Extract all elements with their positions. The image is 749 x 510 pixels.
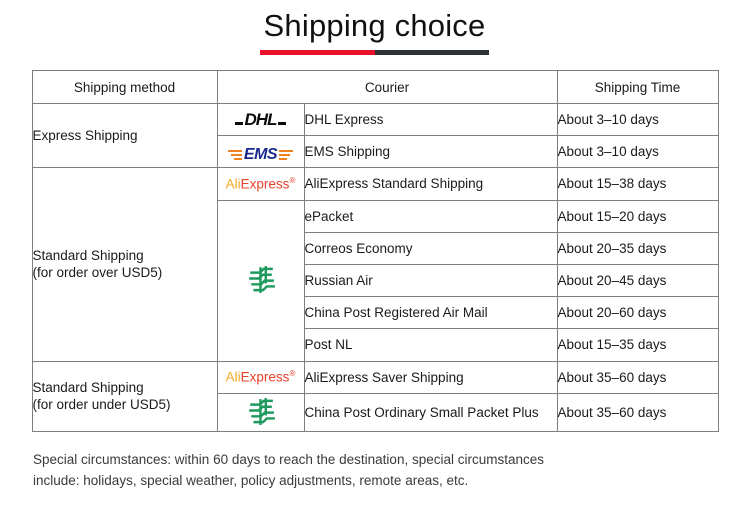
header-courier: Courier [217, 71, 557, 104]
title-block: Shipping choice [0, 0, 749, 55]
footer-line-1: Special circumstances: within 60 days to… [33, 449, 719, 470]
shipping-time: About 20–60 days [557, 297, 718, 329]
courier-logo-cell [217, 393, 304, 431]
service-name: Correos Economy [304, 232, 557, 264]
service-name: DHL Express [304, 104, 557, 136]
method-label-line2: (for order over USD5) [33, 264, 217, 281]
service-name: China Post Ordinary Small Packet Plus [304, 393, 557, 431]
table-row: Express Shipping DHL DHL Express About 3… [32, 104, 718, 136]
method-express-shipping: Express Shipping [32, 104, 217, 168]
service-name: AliExpress Saver Shipping [304, 361, 557, 393]
service-name: EMS Shipping [304, 136, 557, 168]
method-label-line2: (for order under USD5) [33, 396, 217, 413]
courier-logo-cell: EMS [217, 136, 304, 168]
table-row: Standard Shipping (for order over USD5) … [32, 168, 718, 200]
service-name: Post NL [304, 329, 557, 361]
service-name: ePacket [304, 200, 557, 232]
china-post-icon [244, 262, 278, 296]
footer-line-2: include: holidays, special weather, poli… [33, 470, 719, 491]
dhl-icon: DHL [236, 111, 286, 128]
ems-icon: EMS [228, 147, 293, 163]
shipping-time: About 15–35 days [557, 329, 718, 361]
shipping-time: About 3–10 days [557, 104, 718, 136]
courier-logo-cell [217, 200, 304, 361]
aliexpress-icon: AliExpress® [226, 370, 296, 384]
underline-red-segment [260, 50, 375, 55]
page-title: Shipping choice [0, 6, 749, 46]
shipping-table: Shipping method Courier Shipping Time Ex… [32, 70, 719, 432]
table-row: Standard Shipping (for order under USD5)… [32, 361, 718, 393]
method-label-line1: Standard Shipping [33, 247, 217, 264]
shipping-time: About 20–35 days [557, 232, 718, 264]
header-shipping-time: Shipping Time [557, 71, 718, 104]
shipping-time: About 20–45 days [557, 264, 718, 296]
shipping-time: About 3–10 days [557, 136, 718, 168]
title-underline [260, 50, 489, 55]
aliexpress-icon: AliExpress® [226, 177, 296, 191]
courier-logo-cell: AliExpress® [217, 361, 304, 393]
method-standard-shipping-under: Standard Shipping (for order under USD5) [32, 361, 217, 431]
service-name: AliExpress Standard Shipping [304, 168, 557, 200]
footer-note: Special circumstances: within 60 days to… [30, 449, 719, 491]
courier-logo-cell: DHL [217, 104, 304, 136]
shipping-time: About 15–20 days [557, 200, 718, 232]
shipping-time: About 15–38 days [557, 168, 718, 200]
shipping-time: About 35–60 days [557, 393, 718, 431]
service-name: China Post Registered Air Mail [304, 297, 557, 329]
shipping-time: About 35–60 days [557, 361, 718, 393]
shipping-table-wrap: Shipping method Courier Shipping Time Ex… [32, 70, 718, 432]
underline-dark-segment [375, 50, 490, 55]
method-label-line1: Standard Shipping [33, 379, 217, 396]
courier-logo-cell: AliExpress® [217, 168, 304, 200]
method-standard-shipping-over: Standard Shipping (for order over USD5) [32, 168, 217, 361]
service-name: Russian Air [304, 264, 557, 296]
table-header-row: Shipping method Courier Shipping Time [32, 71, 718, 104]
header-shipping-method: Shipping method [32, 71, 217, 104]
china-post-icon [244, 394, 278, 428]
